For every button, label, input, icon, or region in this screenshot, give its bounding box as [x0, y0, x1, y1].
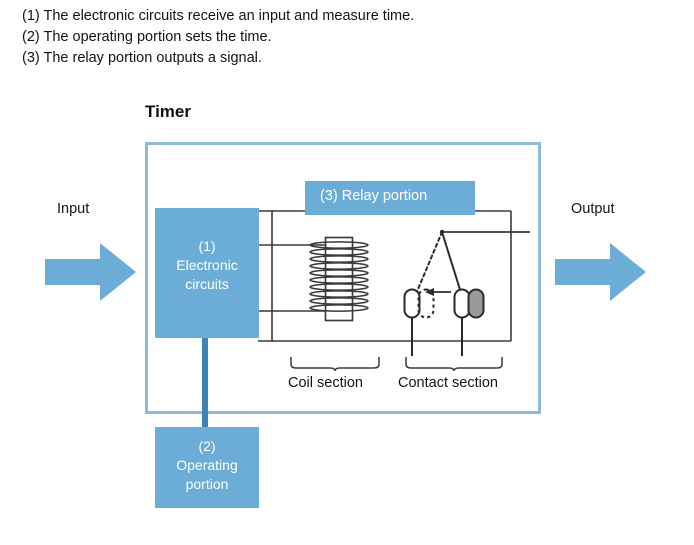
relay-contact-switch-icon — [405, 230, 484, 356]
electronic-circuits-label: (1) Electronic circuits — [155, 237, 259, 294]
left-arrow-icon — [425, 288, 451, 296]
contact-section-label: Contact section — [398, 375, 498, 391]
input-arrow-icon — [45, 243, 136, 301]
output-arrow-icon — [555, 243, 646, 301]
operating-portion-label: (2) Operating portion — [155, 437, 259, 494]
coil-section-brace-icon — [291, 357, 379, 371]
intro-line-3: (3) The relay portion outputs a signal. — [22, 48, 662, 69]
operating-portion-line2: portion — [155, 475, 259, 494]
relay-wiring — [258, 211, 530, 341]
timer-block-diagram — [0, 0, 694, 545]
intro-line-1: (1) The electronic circuits receive an i… — [22, 6, 662, 27]
coil-section-label: Coil section — [288, 375, 363, 391]
block-connector-bar — [202, 335, 208, 430]
operating-portion-number: (2) — [155, 437, 259, 456]
intro-text-block: (1) The electronic circuits receive an i… — [22, 6, 662, 69]
operating-portion-line1: Operating — [155, 456, 259, 475]
electronic-circuits-number: (1) — [155, 237, 259, 256]
timer-title: Timer — [145, 102, 191, 122]
intro-line-2: (2) The operating portion sets the time. — [22, 27, 662, 48]
electronic-circuits-line2: circuits — [155, 275, 259, 294]
output-label: Output — [571, 201, 615, 217]
input-label: Input — [57, 201, 89, 217]
relay-portion-label: (3) Relay portion — [320, 188, 427, 204]
contact-section-brace-icon — [406, 357, 502, 371]
electronic-circuits-line1: Electronic — [155, 256, 259, 275]
inductor-coil-icon — [310, 238, 368, 321]
